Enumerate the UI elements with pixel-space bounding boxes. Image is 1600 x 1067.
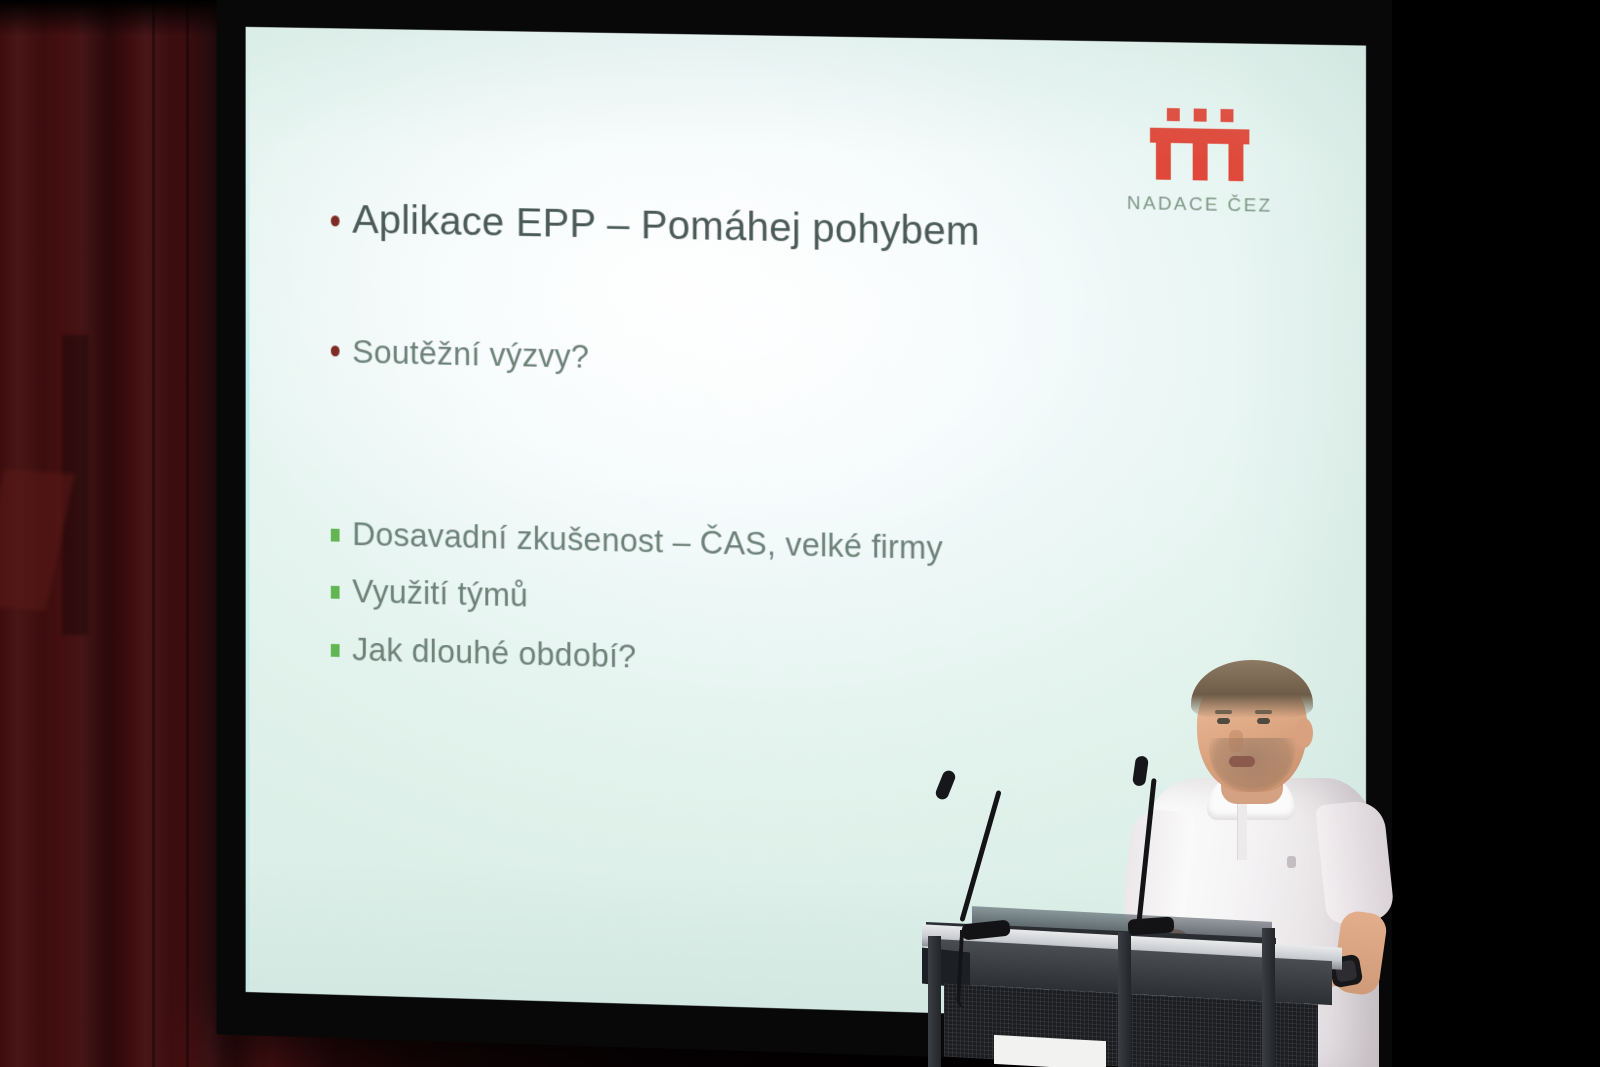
mouth	[1229, 756, 1255, 767]
microphone-base	[1127, 916, 1174, 935]
screen-edge-highlight	[246, 27, 250, 992]
nose	[1229, 730, 1243, 752]
ear	[1295, 718, 1313, 748]
lectern	[922, 906, 1342, 1067]
logo-leg	[1228, 144, 1243, 181]
bullet-text: Aplikace EPP – Pomáhej pohybem	[352, 198, 980, 253]
logo-square-icon	[1166, 108, 1179, 121]
logo-squares	[1150, 108, 1249, 123]
bullet-dot-icon	[331, 345, 340, 356]
lectern-post	[1262, 928, 1275, 1067]
hair	[1191, 660, 1313, 718]
bullet-text: Jak dlouhé období?	[352, 633, 636, 674]
bullet-square-icon	[331, 528, 340, 541]
bullet-dot-icon	[331, 215, 340, 226]
wall-seam	[186, 0, 189, 1067]
shirt-placket	[1237, 804, 1247, 860]
bullet-item: Soutěžní výzvy?	[331, 335, 1264, 389]
eyebrow	[1255, 710, 1272, 714]
bullet-square-icon	[331, 644, 340, 657]
logo-square-icon	[1193, 108, 1206, 121]
slide-bullet-list: Aplikace EPP – Pomáhej pohybem Soutěžní …	[331, 198, 1264, 715]
logo-mark	[1150, 108, 1249, 182]
bullet-text: Soutěžní výzvy?	[352, 335, 589, 374]
bullet-text: Využití týmů	[352, 575, 528, 614]
bullet-item: Využití týmů	[331, 574, 1264, 631]
logo-leg	[1193, 143, 1208, 180]
logo-square-icon	[1220, 109, 1233, 122]
lectern-post	[928, 936, 941, 1067]
eye	[1257, 718, 1270, 724]
nadace-cez-logo: NADACE ČEZ	[1125, 107, 1274, 217]
lectern-name-card	[994, 1035, 1106, 1067]
logo-bridge-icon	[1150, 128, 1249, 182]
shirt-logo-icon	[1287, 856, 1296, 868]
bullet-square-icon	[331, 586, 340, 599]
eye	[1217, 718, 1230, 724]
wall-seam	[152, 0, 155, 1067]
logo-leg	[1156, 143, 1171, 180]
presentation-photo-scene: NADACE ČEZ Aplikace EPP – Pomáhej pohybe…	[0, 0, 1600, 1067]
lectern-post	[1118, 932, 1131, 1067]
eyebrow	[1215, 710, 1232, 714]
